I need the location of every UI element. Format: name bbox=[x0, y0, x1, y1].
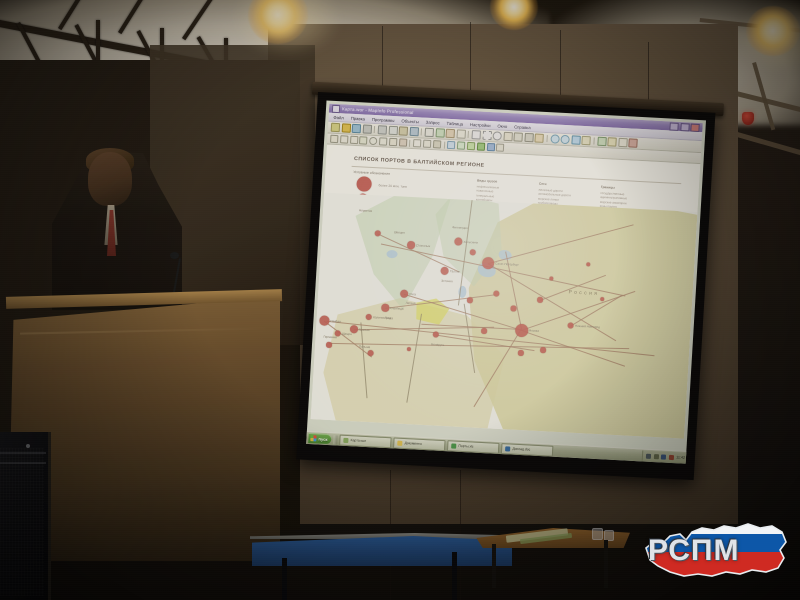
window-controls bbox=[669, 122, 699, 132]
projection-screen-frame: Карта.wor - MapInfo Professional Файл Пр… bbox=[296, 92, 715, 480]
word-export-icon[interactable] bbox=[486, 143, 494, 151]
projection-screen: Карта.wor - MapInfo Professional Файл Пр… bbox=[296, 92, 715, 482]
radius-select-icon[interactable] bbox=[493, 131, 503, 140]
taskbar-item-label: Доклад.doc bbox=[512, 447, 530, 452]
map-city-symbol[interactable] bbox=[470, 249, 476, 255]
select-icon[interactable] bbox=[471, 130, 481, 139]
menu-item-window[interactable]: Окно bbox=[497, 123, 507, 129]
system-tray: 11:42 bbox=[642, 450, 688, 462]
map-city-label: Хельсинки bbox=[463, 240, 478, 245]
status-editable: Редактируемый: нет bbox=[449, 432, 480, 438]
menu-item-help[interactable]: Справка bbox=[514, 124, 531, 130]
toolbar-separator bbox=[421, 128, 422, 135]
map-city-symbol[interactable] bbox=[319, 316, 329, 326]
legend-symbol-wrap bbox=[352, 176, 375, 192]
style-region-icon[interactable] bbox=[423, 140, 431, 148]
menu-item-file[interactable]: Файл bbox=[333, 114, 344, 120]
map-city-symbol[interactable] bbox=[493, 291, 499, 297]
map-city-label: Москва bbox=[529, 328, 539, 333]
fire-alarm-light bbox=[742, 112, 754, 125]
invert-select-icon[interactable] bbox=[524, 133, 534, 142]
taskbar-item-label: Порты.xls bbox=[458, 444, 473, 449]
menu-item-objects[interactable]: Объекты bbox=[401, 118, 419, 124]
ruler-icon[interactable] bbox=[608, 137, 618, 146]
country-label-norway: Норвегия bbox=[359, 208, 372, 213]
map-city-symbol[interactable] bbox=[467, 297, 472, 302]
speaker-head bbox=[88, 152, 132, 206]
new-browser-icon[interactable] bbox=[424, 128, 434, 137]
ellipse-tool-icon[interactable] bbox=[369, 137, 377, 145]
close-icon[interactable] bbox=[690, 123, 699, 131]
map-canvas[interactable]: Россия Финляндия Швеция Норвегия Эстония… bbox=[311, 192, 698, 438]
taskbar-item-label: Карта.wor bbox=[350, 438, 366, 443]
taskbar-item-label: Документы bbox=[404, 441, 422, 446]
map-city-label: Рига bbox=[409, 292, 416, 296]
windows-flag-icon bbox=[310, 435, 316, 441]
map-city-symbol[interactable] bbox=[326, 342, 331, 347]
excel-icon bbox=[451, 443, 456, 448]
toolbar-separator bbox=[443, 141, 444, 148]
toolbar-separator bbox=[468, 131, 469, 138]
map-city-label: Стокгольм bbox=[416, 243, 431, 248]
table-leg bbox=[492, 544, 496, 588]
loudspeaker-trim bbox=[0, 452, 46, 454]
add-node-icon[interactable] bbox=[457, 141, 465, 149]
table-leg bbox=[452, 552, 457, 600]
loudspeaker-trim bbox=[0, 462, 46, 464]
zoom-out-icon[interactable] bbox=[561, 135, 571, 144]
folder-icon bbox=[397, 440, 402, 445]
zoom-in-icon[interactable] bbox=[550, 134, 560, 143]
style-line-icon[interactable] bbox=[413, 139, 421, 147]
status-layer: Слой: Порты bbox=[314, 425, 334, 430]
legend-label: более 20 млн. тонн bbox=[378, 183, 407, 188]
volume-icon[interactable] bbox=[654, 454, 659, 459]
drinking-glass bbox=[592, 528, 603, 540]
loudspeaker-led bbox=[26, 444, 30, 448]
label-icon[interactable] bbox=[582, 136, 592, 145]
country-label-poland: Польша bbox=[359, 344, 370, 349]
map-city-symbol[interactable] bbox=[518, 350, 523, 355]
antivirus-icon[interactable] bbox=[669, 454, 674, 459]
thematic-map-icon[interactable] bbox=[629, 138, 639, 147]
lens-flare bbox=[738, 0, 800, 72]
excel-export-icon[interactable] bbox=[477, 142, 485, 150]
menu-item-programs[interactable]: Программы bbox=[372, 116, 395, 122]
toolbar-separator bbox=[546, 135, 547, 142]
taskbar-item-excel[interactable]: Порты.xls bbox=[447, 440, 500, 454]
map-city-symbol[interactable] bbox=[537, 297, 542, 302]
watermark-text: РСПМ bbox=[648, 534, 739, 568]
boundary-select-icon[interactable] bbox=[503, 132, 513, 141]
map-city-symbol[interactable] bbox=[381, 304, 389, 312]
new-grapher-icon[interactable] bbox=[446, 129, 456, 138]
new-layout-icon[interactable] bbox=[456, 129, 466, 138]
polygon-tool-icon[interactable] bbox=[359, 136, 367, 144]
layer-control-icon[interactable] bbox=[597, 137, 607, 146]
text-tool-icon[interactable] bbox=[330, 135, 338, 143]
cut-icon[interactable] bbox=[378, 125, 388, 134]
map-city-symbol[interactable] bbox=[368, 350, 374, 356]
paste-icon[interactable] bbox=[399, 126, 409, 135]
toolbar-separator bbox=[374, 126, 375, 133]
map-city-symbol[interactable] bbox=[540, 347, 545, 352]
map-city-symbol[interactable] bbox=[511, 306, 516, 311]
toolbar-separator bbox=[409, 139, 410, 146]
undo-icon[interactable] bbox=[409, 127, 419, 136]
map-city-label: Калининград bbox=[373, 315, 391, 320]
save-table-icon[interactable] bbox=[352, 124, 362, 133]
map-city-label: Щецин bbox=[342, 332, 352, 336]
network-icon[interactable] bbox=[646, 453, 651, 458]
toolbar-separator bbox=[593, 137, 594, 144]
taskbar-separator bbox=[333, 435, 338, 444]
map-city-label: Таллин bbox=[450, 269, 460, 274]
menu-item-table[interactable]: Таблица bbox=[447, 120, 464, 126]
line-tool-icon[interactable] bbox=[340, 135, 348, 143]
pan-icon[interactable] bbox=[535, 133, 545, 142]
new-mapper-icon[interactable] bbox=[435, 128, 445, 137]
status-projection: Проекция: Долгота/Широта bbox=[401, 430, 443, 436]
microphone-head bbox=[170, 252, 179, 259]
run-tool-icon[interactable] bbox=[467, 142, 475, 150]
wall-panel-seam bbox=[382, 26, 383, 92]
mapinfo-icon bbox=[343, 437, 348, 442]
map-city-label: Гданьск bbox=[359, 327, 370, 332]
symbol-tool-icon[interactable] bbox=[399, 138, 407, 146]
country-label-belarus: Беларусь bbox=[431, 342, 444, 347]
help-tool-icon[interactable] bbox=[496, 143, 504, 151]
polygon-select-icon[interactable] bbox=[514, 132, 524, 141]
map-city-label: Гамбург bbox=[330, 319, 341, 324]
menu-item-query[interactable]: Запрос bbox=[426, 119, 440, 125]
table-leg bbox=[282, 558, 287, 600]
menu-item-settings[interactable]: Настройки bbox=[470, 122, 491, 128]
country-label-latvia: Латвия bbox=[406, 301, 416, 306]
taskbar-clock: 11:42 bbox=[676, 455, 685, 459]
status-scale: Масштаб 1:9 300 000 bbox=[340, 427, 373, 433]
language-icon[interactable] bbox=[661, 454, 666, 459]
taskbar-item-mapinfo[interactable]: Карта.wor bbox=[339, 434, 392, 448]
polyline-tool-icon[interactable] bbox=[350, 136, 358, 144]
map-city-symbol[interactable] bbox=[514, 323, 528, 337]
marquee-select-icon[interactable] bbox=[482, 131, 492, 140]
status-selection: Выбрано: 0 bbox=[378, 429, 396, 434]
taskbar-item-word[interactable]: Доклад.doc bbox=[501, 443, 554, 457]
new-table-icon[interactable] bbox=[331, 123, 341, 132]
menu-item-edit[interactable]: Правка bbox=[351, 115, 365, 121]
style-symbol-icon[interactable] bbox=[433, 140, 441, 148]
word-icon bbox=[505, 446, 510, 451]
wall-panel-seam bbox=[470, 22, 471, 94]
minimize-icon[interactable] bbox=[669, 122, 678, 130]
start-button[interactable]: пуск bbox=[308, 433, 332, 444]
projected-image: Карта.wor - MapInfo Professional Файл Пр… bbox=[306, 100, 706, 463]
arc-tool-icon[interactable] bbox=[389, 138, 397, 146]
start-button-label: пуск bbox=[318, 436, 327, 441]
print-icon[interactable] bbox=[362, 124, 372, 133]
loudspeaker-grille bbox=[0, 448, 44, 596]
taskbar-item-documents[interactable]: Документы bbox=[393, 437, 446, 451]
rectangle-tool-icon[interactable] bbox=[379, 137, 387, 145]
table-leg bbox=[604, 540, 608, 588]
mapinfo-window: Карта.wor - MapInfo Professional Файл Пр… bbox=[311, 104, 703, 439]
screenshot-root: Карта.wor - MapInfo Professional Файл Пр… bbox=[0, 0, 800, 600]
open-table-icon[interactable] bbox=[341, 123, 351, 132]
maximize-icon[interactable] bbox=[680, 123, 689, 131]
watermark: РСПМ bbox=[640, 516, 790, 588]
copy-icon[interactable] bbox=[388, 126, 398, 135]
graduated-circle-icon bbox=[356, 176, 372, 192]
country-label-estonia: Эстония bbox=[441, 279, 453, 284]
map-city-label: Клайпеда bbox=[390, 306, 404, 311]
map-document: СПИСОК ПОРТОВ В БАЛТИЙСКОМ РЕГИОНЕ Услов… bbox=[311, 145, 701, 439]
country-label-finland: Финляндия bbox=[452, 225, 468, 230]
reshape-icon[interactable] bbox=[447, 141, 455, 149]
legend-icon[interactable] bbox=[618, 138, 628, 147]
info-icon[interactable] bbox=[571, 135, 581, 144]
map-city-symbol[interactable] bbox=[481, 328, 486, 333]
mapinfo-icon bbox=[332, 104, 340, 112]
map-city-symbol[interactable] bbox=[407, 241, 415, 249]
lens-flare bbox=[232, 0, 342, 58]
country-label-sweden: Швеция bbox=[394, 230, 405, 235]
